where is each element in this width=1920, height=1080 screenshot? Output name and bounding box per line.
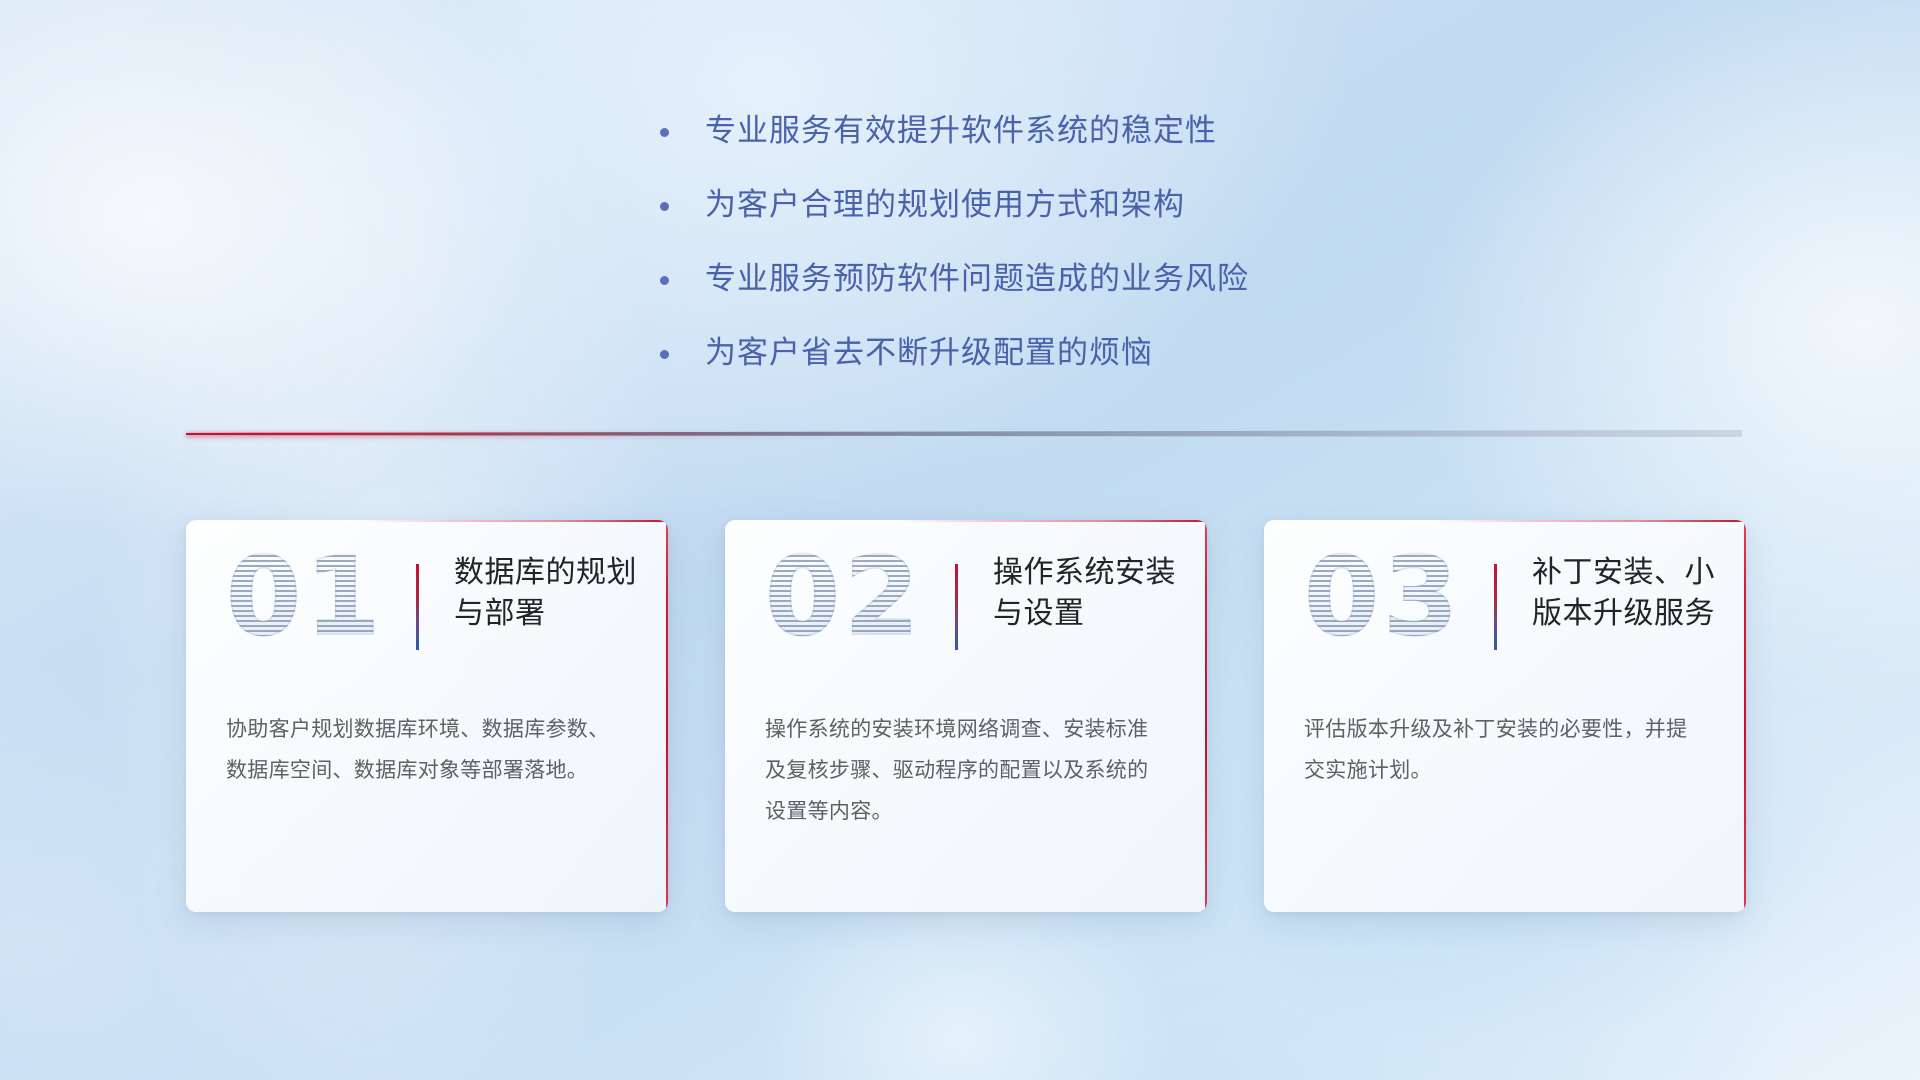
bullet-dot-icon <box>660 202 669 211</box>
bullet-text: 专业服务有效提升软件系统的稳定性 <box>705 110 1217 152</box>
bullet-text: 为客户省去不断升级配置的烦恼 <box>705 332 1153 374</box>
card-group: 01 数据库的规划与部署 协助客户规划数据库环境、数据库参数、数据库空间、数据库… <box>186 520 1746 912</box>
card-rule-divider <box>955 564 958 650</box>
section-divider <box>186 424 1742 442</box>
card-rule-divider <box>1494 564 1497 650</box>
list-item: 为客户省去不断升级配置的烦恼 <box>660 332 1420 374</box>
card-02[interactable]: 02 操作系统安装与设置 操作系统的安装环境网络调查、安装标准及复核步骤、驱动程… <box>725 520 1207 912</box>
card-rule-divider <box>416 564 419 650</box>
bullet-list: 专业服务有效提升软件系统的稳定性 为客户合理的规划使用方式和架构 专业服务预防软… <box>660 110 1420 405</box>
bullet-text: 专业服务预防软件问题造成的业务风险 <box>705 258 1249 300</box>
card-03[interactable]: 03 补丁安装、小版本升级服务 评估版本升级及补丁安装的必要性，并提交实施计划。 <box>1264 520 1746 912</box>
bullet-dot-icon <box>660 350 669 359</box>
list-item: 专业服务有效提升软件系统的稳定性 <box>660 110 1420 152</box>
list-item: 为客户合理的规划使用方式和架构 <box>660 184 1420 226</box>
card-number: 02 <box>765 544 923 652</box>
card-header: 01 数据库的规划与部署 <box>186 520 668 688</box>
card-body-text: 评估版本升级及补丁安装的必要性，并提交实施计划。 <box>1304 710 1702 792</box>
card-title: 数据库的规划与部署 <box>454 552 650 635</box>
card-title: 补丁安装、小版本升级服务 <box>1532 552 1728 635</box>
bullet-dot-icon <box>660 276 669 285</box>
card-number: 03 <box>1304 544 1462 652</box>
bullet-text: 为客户合理的规划使用方式和架构 <box>705 184 1185 226</box>
card-body-text: 操作系统的安装环境网络调查、安装标准及复核步骤、驱动程序的配置以及系统的设置等内… <box>765 710 1163 833</box>
list-item: 专业服务预防软件问题造成的业务风险 <box>660 258 1420 300</box>
card-header: 03 补丁安装、小版本升级服务 <box>1264 520 1746 688</box>
card-header: 02 操作系统安装与设置 <box>725 520 1207 688</box>
card-01[interactable]: 01 数据库的规划与部署 协助客户规划数据库环境、数据库参数、数据库空间、数据库… <box>186 520 668 912</box>
bullet-dot-icon <box>660 128 669 137</box>
card-title: 操作系统安装与设置 <box>993 552 1189 635</box>
card-number: 01 <box>226 544 384 652</box>
card-body-text: 协助客户规划数据库环境、数据库参数、数据库空间、数据库对象等部署落地。 <box>226 710 624 792</box>
